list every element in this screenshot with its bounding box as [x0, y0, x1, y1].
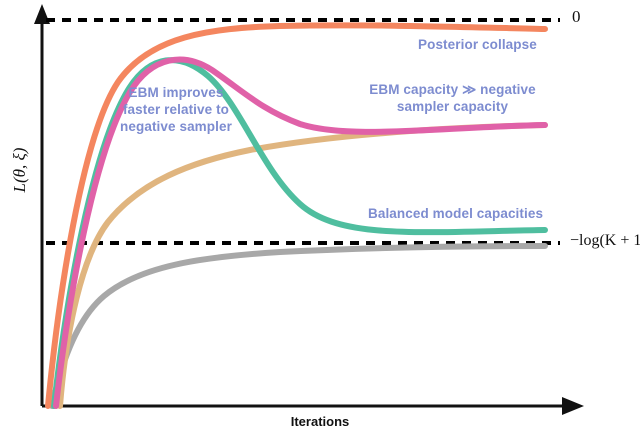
annotation-ebm-improves: EBM improves faster relative to negative… — [96, 84, 256, 135]
curve-lower-bound-baseline — [52, 246, 545, 406]
figure-canvas: EBM improves faster relative to negative… — [0, 0, 640, 435]
axis-label-neg-log-k-plus-1: −log(K + 1) — [570, 232, 640, 250]
annotation-posterior-collapse: Posterior collapse — [418, 36, 578, 53]
annotation-balanced-model-capacities: Balanced model capacities — [368, 205, 553, 222]
y-axis-label-container: L(θ, ξ) — [10, 100, 30, 240]
x-axis-arrowhead — [562, 397, 584, 415]
annotation-ebm-capacity: EBM capacity ≫ negative sampler capacity — [360, 81, 545, 115]
curve-negative-sampler-capacity — [60, 125, 545, 406]
y-axis-label: L(θ, ξ) — [10, 148, 29, 193]
x-axis-label: Iterations — [0, 414, 640, 429]
axis-label-zero: 0 — [572, 7, 581, 27]
